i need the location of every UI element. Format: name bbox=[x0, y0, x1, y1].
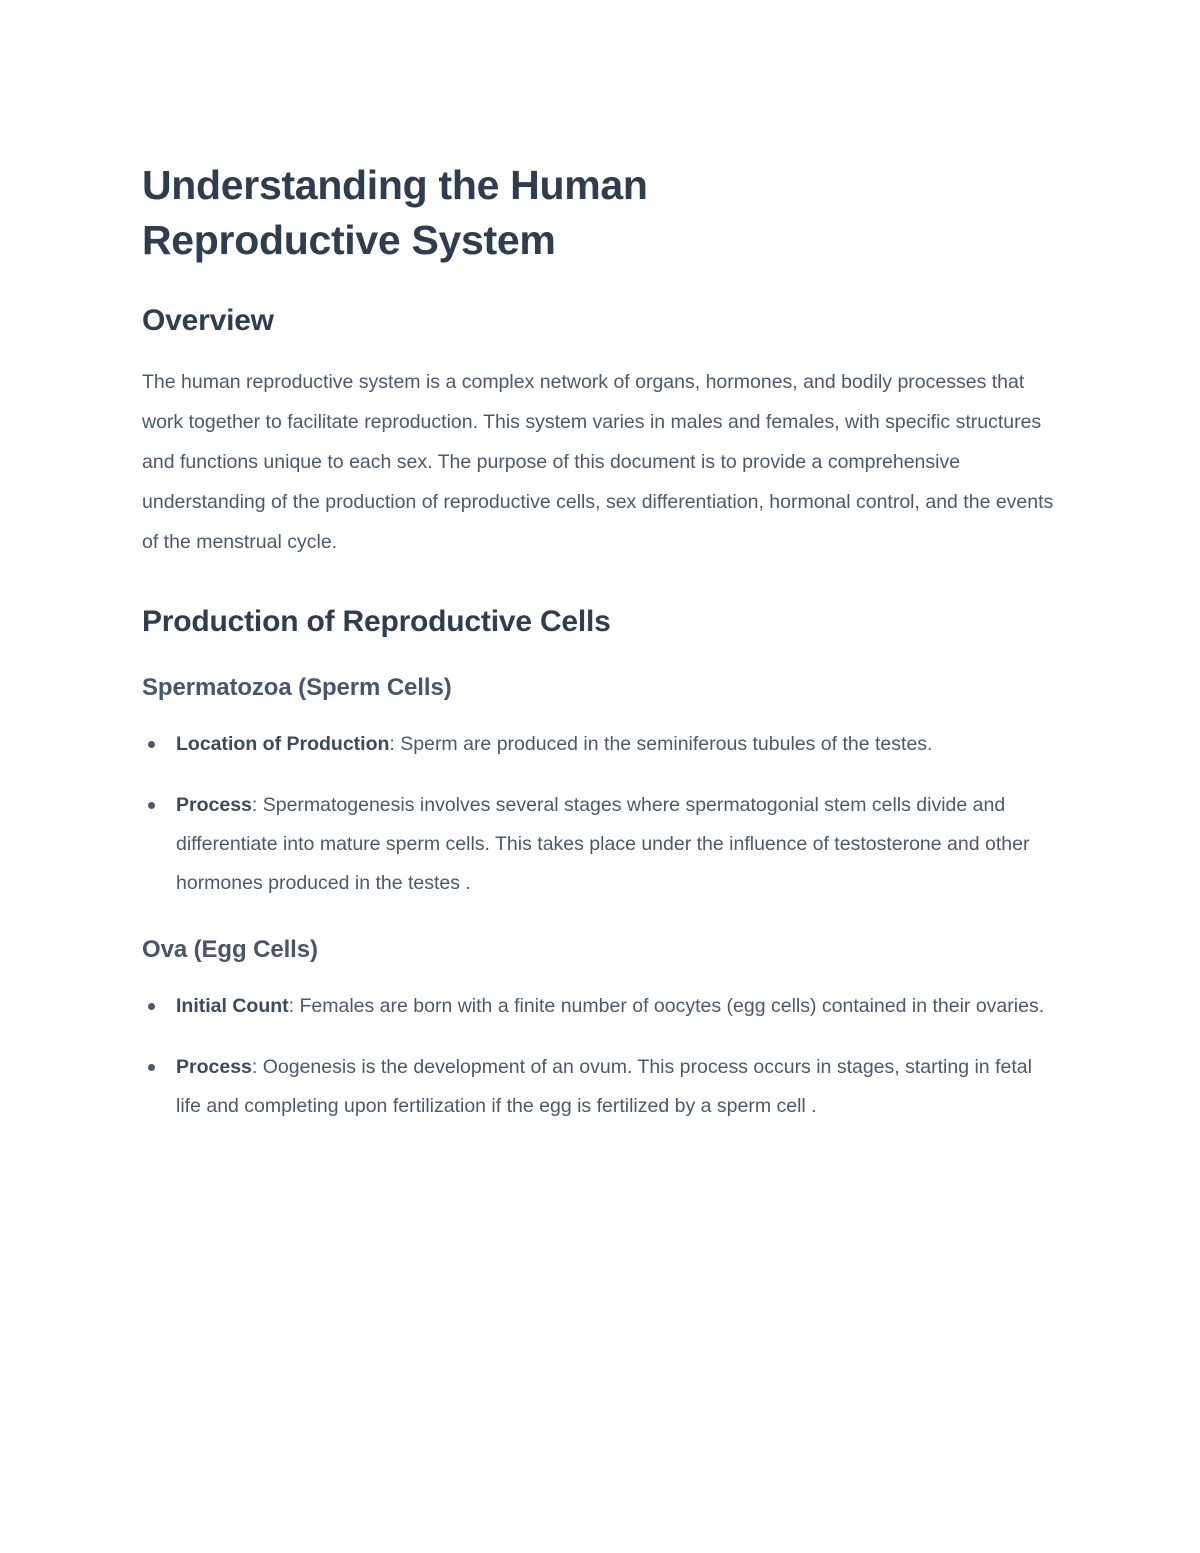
subheading-spermatozoa: Spermatozoa (Sperm Cells) bbox=[142, 673, 1060, 703]
bullet-list-spermatozoa: Location of Production: Sperm are produc… bbox=[142, 725, 1060, 903]
bullet-text: : Spermatogenesis involves several stage… bbox=[176, 794, 1029, 894]
bullet-dot-icon bbox=[148, 1064, 155, 1071]
bullet-list-ova: Initial Count: Females are born with a f… bbox=[142, 987, 1060, 1126]
section-heading-overview: Overview bbox=[142, 302, 1060, 340]
bullet-dot-icon bbox=[148, 1003, 155, 1010]
list-item: Process: Spermatogenesis involves severa… bbox=[142, 786, 1060, 903]
list-item: Location of Production: Sperm are produc… bbox=[142, 725, 1060, 764]
bullet-lead-in: Process bbox=[176, 794, 252, 816]
page-title: Understanding the Human Reproductive Sys… bbox=[142, 158, 782, 268]
document-page: Understanding the Human Reproductive Sys… bbox=[0, 0, 1200, 1553]
bullet-lead-in: Location of Production bbox=[176, 733, 389, 755]
bullet-dot-icon bbox=[148, 802, 155, 809]
bullet-lead-in: Process bbox=[176, 1056, 252, 1078]
bullet-text: : Females are born with a finite number … bbox=[289, 995, 1044, 1017]
bullet-text: : Sperm are produced in the seminiferous… bbox=[389, 733, 932, 755]
bullet-text: : Oogenesis is the development of an ovu… bbox=[176, 1056, 1032, 1117]
document-content: Understanding the Human Reproductive Sys… bbox=[142, 158, 1060, 1126]
bullet-lead-in: Initial Count bbox=[176, 995, 289, 1017]
list-item: Initial Count: Females are born with a f… bbox=[142, 987, 1060, 1026]
overview-paragraph: The human reproductive system is a compl… bbox=[142, 363, 1060, 563]
bullet-dot-icon bbox=[148, 741, 155, 748]
list-item: Process: Oogenesis is the development of… bbox=[142, 1048, 1060, 1126]
subheading-ova: Ova (Egg Cells) bbox=[142, 935, 1060, 965]
section-heading-production: Production of Reproductive Cells bbox=[142, 603, 1060, 641]
